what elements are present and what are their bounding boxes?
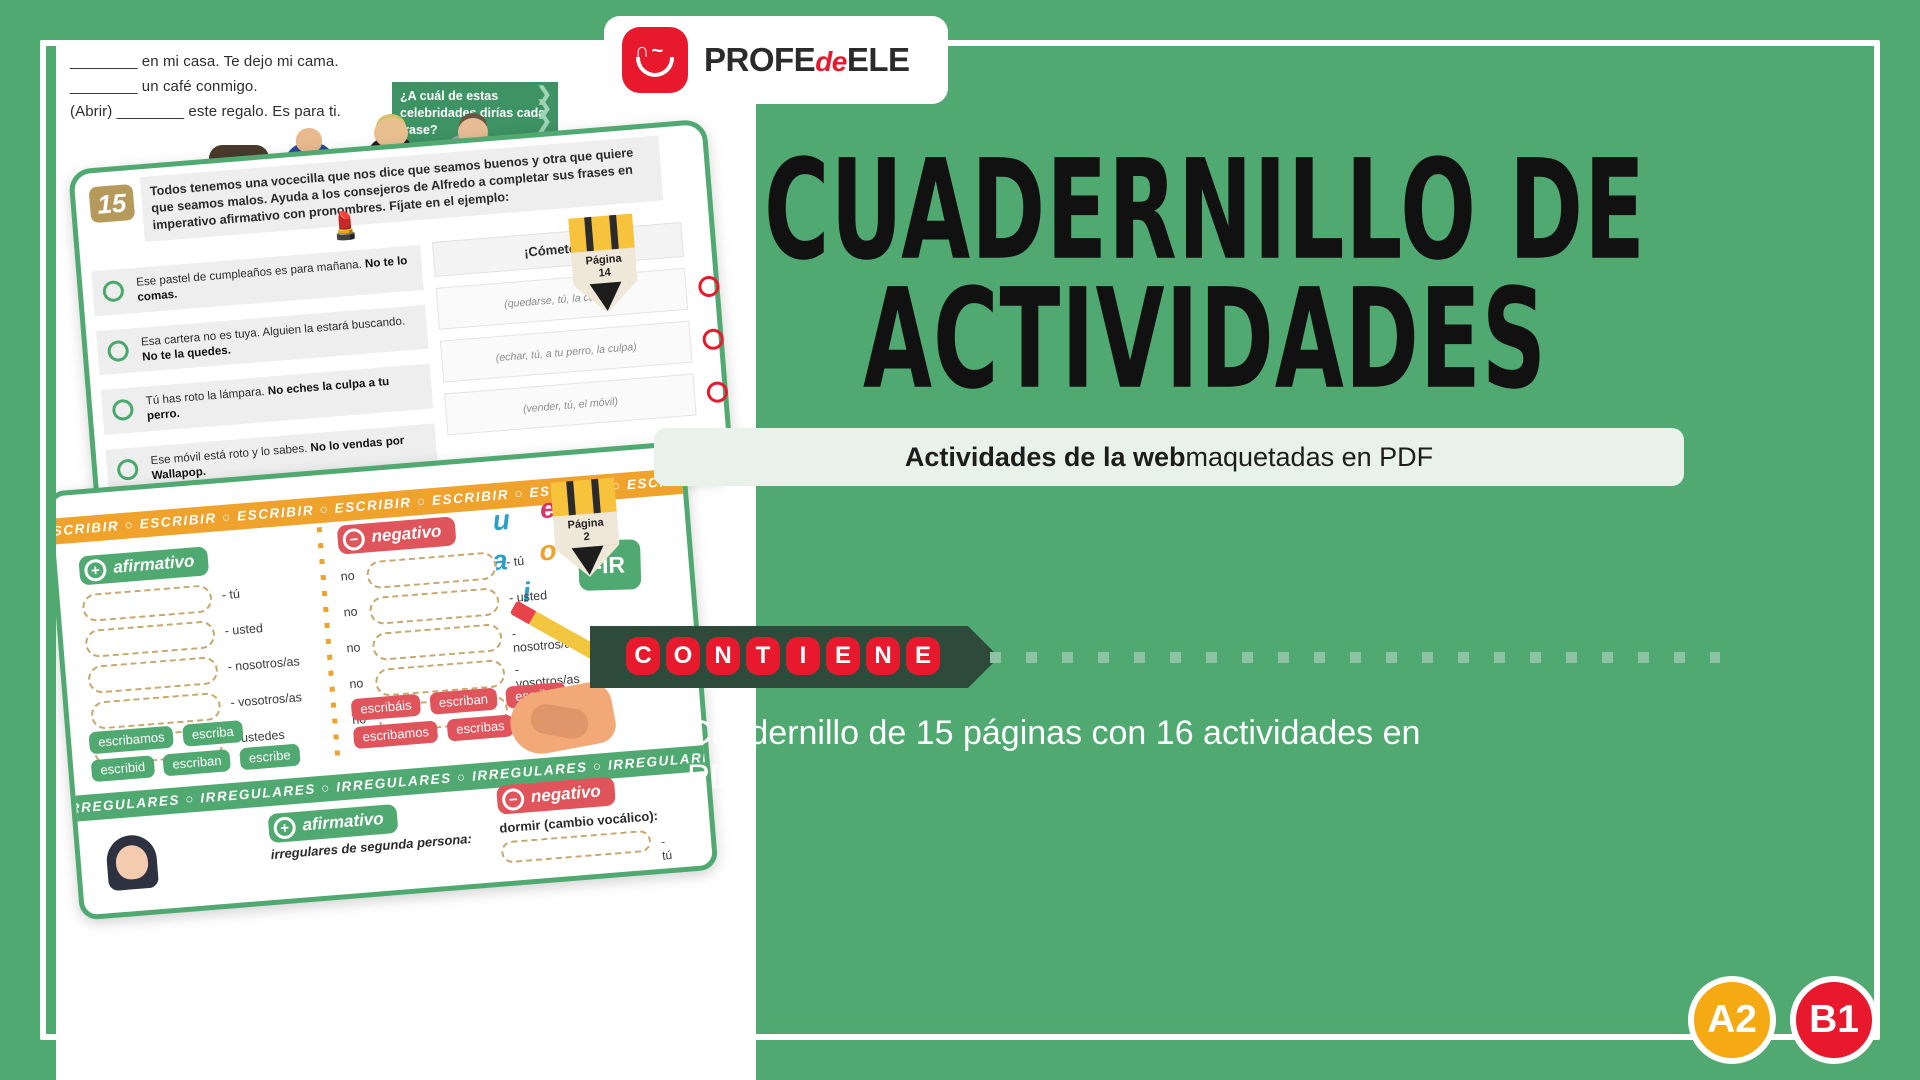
answer-hint: (vender, tú, el móvil) <box>522 396 618 416</box>
level-badges: A2 B1 <box>1688 976 1878 1064</box>
conjugation-input[interactable] <box>371 623 503 661</box>
answer-example: ¡Cómetelo! <box>432 222 684 277</box>
affirmative-label: afirmativo <box>302 809 385 834</box>
person-label: - nosotros/as <box>227 654 300 674</box>
logo-ele: ELE <box>847 41 910 78</box>
person-label: - vosotros/as <box>230 690 302 710</box>
page-title-line2: ACTIVIDADES <box>667 276 1744 406</box>
negative-label: negativo <box>371 521 442 546</box>
worksheet-top-line: ________ en mi casa. Te dejo mi cama. <box>70 50 490 75</box>
exercise-row: Ese pastel de cumpleaños es para mañana.… <box>91 245 424 316</box>
answer-slot[interactable]: (quedarse, tú, la cartera) <box>436 268 689 330</box>
conjugation-input[interactable] <box>366 551 498 589</box>
answer-hint: (echar, tú, a tu perro, la culpa) <box>495 341 637 364</box>
tab-point-inner <box>572 545 606 575</box>
conjugation-input[interactable] <box>84 620 216 658</box>
conjugation-input[interactable] <box>81 584 213 622</box>
smile-shape <box>636 57 674 77</box>
row-marker-circle <box>112 399 135 422</box>
contiene-letter: I <box>786 637 820 675</box>
feature-bullet-list: Cuadernillo de 15 páginas con 16 activid… <box>655 712 1475 799</box>
negation-word: no <box>340 569 355 584</box>
word-tag[interactable]: escribáis <box>351 694 422 721</box>
chevron-down-icon: ❯❯❯ <box>536 88 552 129</box>
logo-de: de <box>815 46 847 77</box>
plus-icon: + <box>84 558 108 582</box>
contiene-banner: C O N T I E N E <box>590 626 968 688</box>
affirmative-pill: + afirmativo <box>78 546 209 585</box>
tab-point-inner <box>590 281 624 311</box>
minus-icon: − <box>501 787 525 811</box>
exercise-row-text: Ese móvil está roto y lo sabes. <box>150 441 311 467</box>
tab-band <box>550 478 617 517</box>
word-tag[interactable]: escribamos <box>353 720 439 749</box>
logo-wordmark: PROFEdeELE <box>704 41 910 79</box>
level-badge-a2: A2 <box>1688 976 1776 1064</box>
dotted-rule <box>990 652 1720 663</box>
logo-profe: PROFE <box>704 41 815 78</box>
list-item: Cuadernillo de 15 páginas con 16 activid… <box>655 712 1475 799</box>
conjugation-input[interactable] <box>501 830 652 864</box>
answer-slot[interactable]: (echar, tú, a tu perro, la culpa) <box>440 321 693 383</box>
word-tag[interactable]: escriba <box>182 720 243 747</box>
exercise-row: Esa cartera no es tuya. Alguien la estar… <box>96 304 429 375</box>
avatar <box>105 833 159 891</box>
negative-pill: − negativo <box>496 776 616 814</box>
contiene-letter: E <box>826 637 860 675</box>
dotted-divider <box>317 527 340 757</box>
negation-word: no <box>343 604 358 619</box>
exercise-row-text: Tú has roto la lámpara. <box>145 385 268 408</box>
sub-affirmative-block: + afirmativo irregulares de segunda pers… <box>268 798 473 862</box>
contiene-banner-wrap: C O N T I E N E <box>590 626 1710 688</box>
subtitle-banner: Actividades de la web maquetadas en PDF <box>654 428 1684 486</box>
word-tag[interactable]: escriban <box>163 749 232 776</box>
contiene-letters: C O N T I E N E <box>626 637 940 675</box>
word-tag[interactable]: escribid <box>91 755 155 782</box>
contiene-letter: N <box>706 637 740 675</box>
minus-icon: − <box>342 527 366 551</box>
worksheet-preview-panel: ________ en mi casa. Te dejo mi cama. __… <box>56 40 756 1080</box>
angel-wings-icon: 💄 <box>327 210 388 249</box>
smiley-face-icon: ∩~ <box>622 27 688 93</box>
tab-body: Página 14 <box>571 247 637 285</box>
subtitle-bold: Actividades de la web <box>905 442 1186 473</box>
person-label: - tú <box>221 587 240 602</box>
plus-icon: + <box>273 816 297 840</box>
exercise-answer-column: ¡Cómetelo! (quedarse, tú, la cartera) (e… <box>432 222 698 446</box>
page-tab-14: Página 14 <box>568 214 640 316</box>
contiene-letter: T <box>746 637 780 675</box>
person-label: - tú <box>506 554 525 569</box>
level-badge-b1: B1 <box>1790 976 1878 1064</box>
negative-pill: − negativo <box>337 516 457 554</box>
affirmative-pill: + afirmativo <box>268 804 399 843</box>
page-tab-2: Página 2 <box>550 478 622 580</box>
word-tag[interactable]: escribe <box>239 744 300 771</box>
affirmative-label: afirmativo <box>112 551 195 576</box>
exercise-number-badge: 15 <box>88 184 135 223</box>
profe-de-ele-logo[interactable]: ∩~ PROFEdeELE <box>604 16 948 104</box>
conjugation-input[interactable] <box>87 656 219 694</box>
row-marker-circle <box>116 458 139 481</box>
tab-band <box>568 214 635 253</box>
contiene-letter: E <box>906 637 940 675</box>
negation-word: no <box>349 676 364 691</box>
sub-negative-block: − negativo dormir (cambio vocálico): - t… <box>496 773 661 863</box>
negation-word: no <box>346 640 361 655</box>
row-marker-circle <box>107 340 130 363</box>
subtitle-regular: maquetadas en PDF <box>1185 442 1433 473</box>
answer-slot[interactable]: (vender, tú, el móvil) <box>444 374 697 436</box>
page-title: CUADERNILLO DE ACTIVIDADES <box>667 147 1744 406</box>
promo-column: CUADERNILLO DE ACTIVIDADES Actividades d… <box>770 40 1874 1040</box>
contiene-letter: C <box>626 637 660 675</box>
person-label: - tú <box>660 834 672 863</box>
tab-body: Página 2 <box>553 511 619 549</box>
poster-canvas: ________ en mi casa. Te dejo mi cama. __… <box>0 0 1920 1080</box>
exercise-row-text: Esa cartera no es tuya. Alguien la estar… <box>140 314 405 348</box>
contiene-letter: O <box>666 637 700 675</box>
negative-label: negativo <box>530 782 601 807</box>
word-tag[interactable]: escriban <box>429 688 498 715</box>
person-label: - usted <box>224 621 263 638</box>
row-marker-circle <box>102 280 125 303</box>
exercise-row-text: Ese pastel de cumpleaños es para mañana. <box>136 258 366 289</box>
conjugation-input[interactable] <box>368 587 500 625</box>
exercise-row: Tú has roto la lámpara. No eches la culp… <box>101 364 434 435</box>
contiene-letter: N <box>866 637 900 675</box>
